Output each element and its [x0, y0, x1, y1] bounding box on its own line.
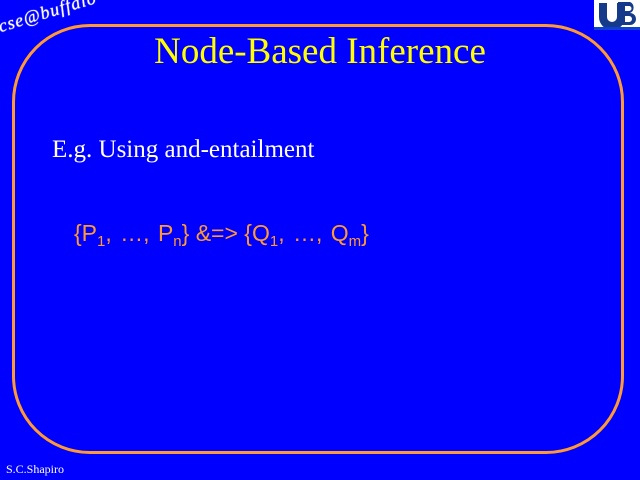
formula-sub-pn: n: [173, 233, 181, 250]
formula-close-right: }: [361, 220, 369, 246]
formula-ellipsis-2: …: [293, 220, 316, 246]
formula-comma-3: ,: [278, 220, 293, 246]
slide-title: Node-Based Inference: [0, 30, 640, 74]
formula-open-right: {Q: [244, 220, 270, 246]
formula-line: {P1, …, Pn} &=> {Q1, …, Qm}: [74, 218, 369, 257]
formula-sub-q1: 1: [270, 233, 278, 250]
slide-body-text: E.g. Using and-entailment: [52, 134, 314, 166]
ub-logo-icon: [594, 0, 640, 30]
formula-p-last: P: [158, 220, 173, 246]
ub-logo: [594, 0, 640, 30]
footer-author: S.C.Shapiro: [6, 462, 64, 476]
formula-sub-qm: m: [349, 233, 362, 250]
formula-ellipsis-1: …: [120, 220, 143, 246]
slide-canvas: cse@buffalo Node-Based Inference E.g. Us…: [0, 0, 640, 480]
formula-comma-2: ,: [143, 220, 158, 246]
formula-comma-4: ,: [316, 220, 331, 246]
formula-comma-1: ,: [105, 220, 120, 246]
formula-open-left: {P: [74, 220, 97, 246]
formula-operator: &=>: [189, 220, 244, 246]
formula-q-last: Q: [331, 220, 349, 246]
